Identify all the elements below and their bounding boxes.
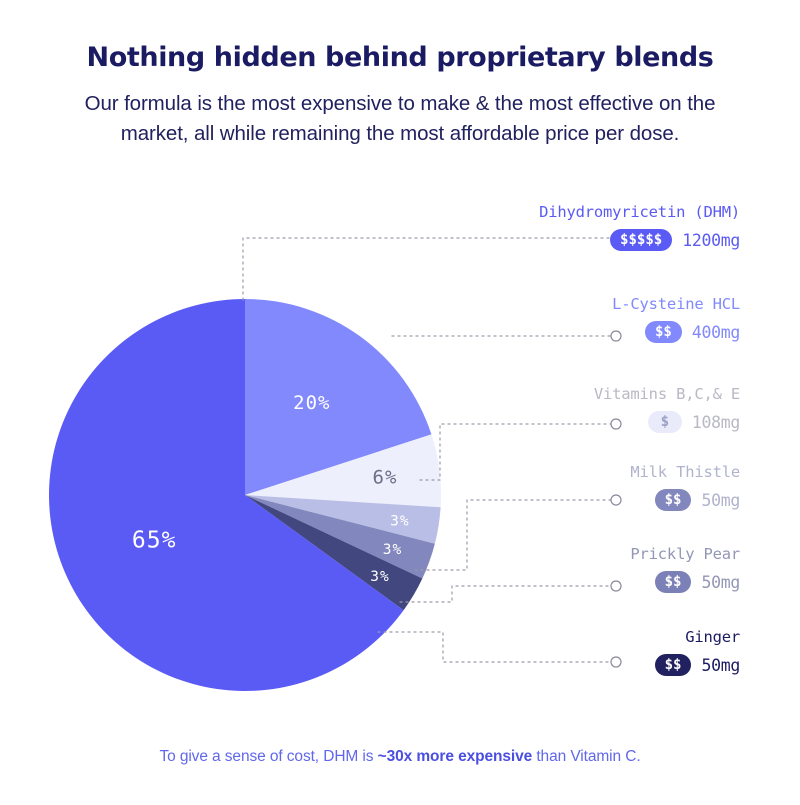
cost-rating-badge: $$ (645, 321, 682, 343)
legend-item: Vitamins B,C,& E$108mg (410, 385, 740, 434)
pie-slice-value-label: 20% (293, 392, 330, 414)
footer-emphasis: ~30x more expensive (378, 748, 533, 765)
legend-item-detail: $$50mg (410, 653, 740, 677)
legend-item-dose: 50mg (701, 573, 740, 592)
cost-rating-badge: $$$$$ (610, 229, 672, 251)
legend-item: Milk Thistle$$50mg (410, 463, 740, 512)
legend-item: L-Cysteine HCL$$400mg (410, 295, 740, 344)
legend-item-detail: $$50mg (410, 570, 740, 594)
infographic-canvas: Nothing hidden behind proprietary blends… (0, 0, 800, 800)
legend-item-detail: $$400mg (410, 320, 740, 344)
legend-item-detail: $108mg (410, 410, 740, 434)
pie-slice-value-label: 3% (383, 542, 402, 558)
pie-slice-value-label: 3% (390, 514, 409, 530)
legend-item-name: Ginger (410, 628, 740, 646)
legend-item-name: Dihydromyricetin (DHM) (410, 203, 740, 221)
pie-slices (49, 299, 441, 691)
legend-item-dose: 400mg (692, 323, 740, 342)
legend-item-name: Milk Thistle (410, 463, 740, 481)
legend-item: Ginger$$50mg (410, 628, 740, 677)
pie-slice-value-label: 65% (132, 527, 177, 553)
legend-item-name: Vitamins B,C,& E (410, 385, 740, 403)
cost-rating-badge: $$ (655, 489, 692, 511)
legend-item-detail: $$50mg (410, 488, 740, 512)
pie-slice-value-label: 3% (370, 569, 389, 585)
legend-item: Prickly Pear$$50mg (410, 545, 740, 594)
legend-item-detail: $$$$$1200mg (410, 228, 740, 252)
legend-item-name: Prickly Pear (410, 545, 740, 563)
pie-slice-value-label: 6% (373, 466, 398, 488)
cost-rating-badge: $$ (655, 654, 692, 676)
legend-item-dose: 108mg (692, 413, 740, 432)
legend-item: Dihydromyricetin (DHM)$$$$$1200mg (410, 203, 740, 252)
cost-rating-badge: $$ (655, 571, 692, 593)
legend-item-dose: 50mg (701, 491, 740, 510)
footer-suffix: than Vitamin C. (532, 748, 640, 765)
legend-item-dose: 50mg (701, 656, 740, 675)
footer-prefix: To give a sense of cost, DHM is (159, 748, 377, 765)
legend-item-dose: 1200mg (682, 231, 740, 250)
legend-item-name: L-Cysteine HCL (410, 295, 740, 313)
cost-rating-badge: $ (648, 411, 682, 433)
footer-note: To give a sense of cost, DHM is ~30x mor… (0, 748, 800, 766)
